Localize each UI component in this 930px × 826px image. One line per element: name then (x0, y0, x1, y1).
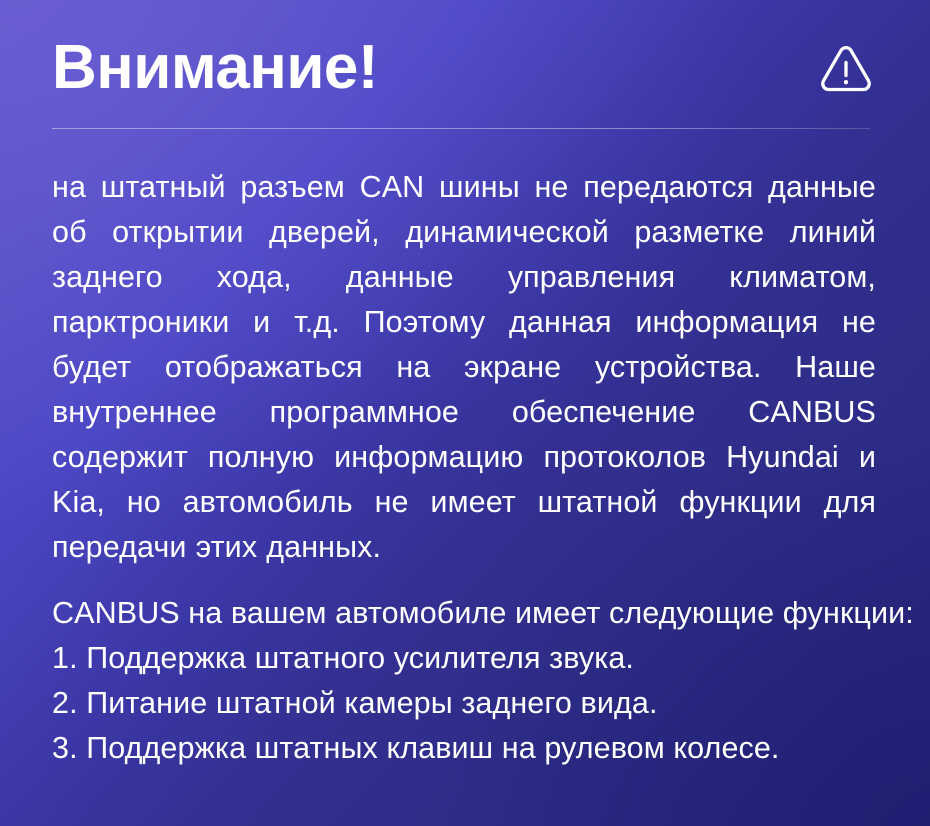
functions-block: CANBUS на вашем автомобиле имеет следующ… (52, 570, 876, 771)
page-title: Внимание! (52, 37, 378, 99)
body-paragraph: на штатный разъем CAN шины не передаются… (52, 129, 876, 570)
functions-list: 1. Поддержка штатного усилителя звука. 2… (52, 636, 876, 771)
functions-intro: CANBUS на вашем автомобиле имеет следующ… (52, 591, 876, 636)
list-item: 3. Поддержка штатных клавиш на рулевом к… (52, 726, 876, 771)
banner-content: Внимание! на штатный разъем CAN шины не … (0, 0, 930, 771)
warning-triangle-icon (819, 42, 873, 94)
warning-banner: Внимание! на штатный разъем CAN шины не … (0, 0, 930, 826)
list-item: 2. Питание штатной камеры заднего вида. (52, 681, 876, 726)
list-item: 1. Поддержка штатного усилителя звука. (52, 636, 876, 681)
banner-header: Внимание! (52, 0, 878, 84)
